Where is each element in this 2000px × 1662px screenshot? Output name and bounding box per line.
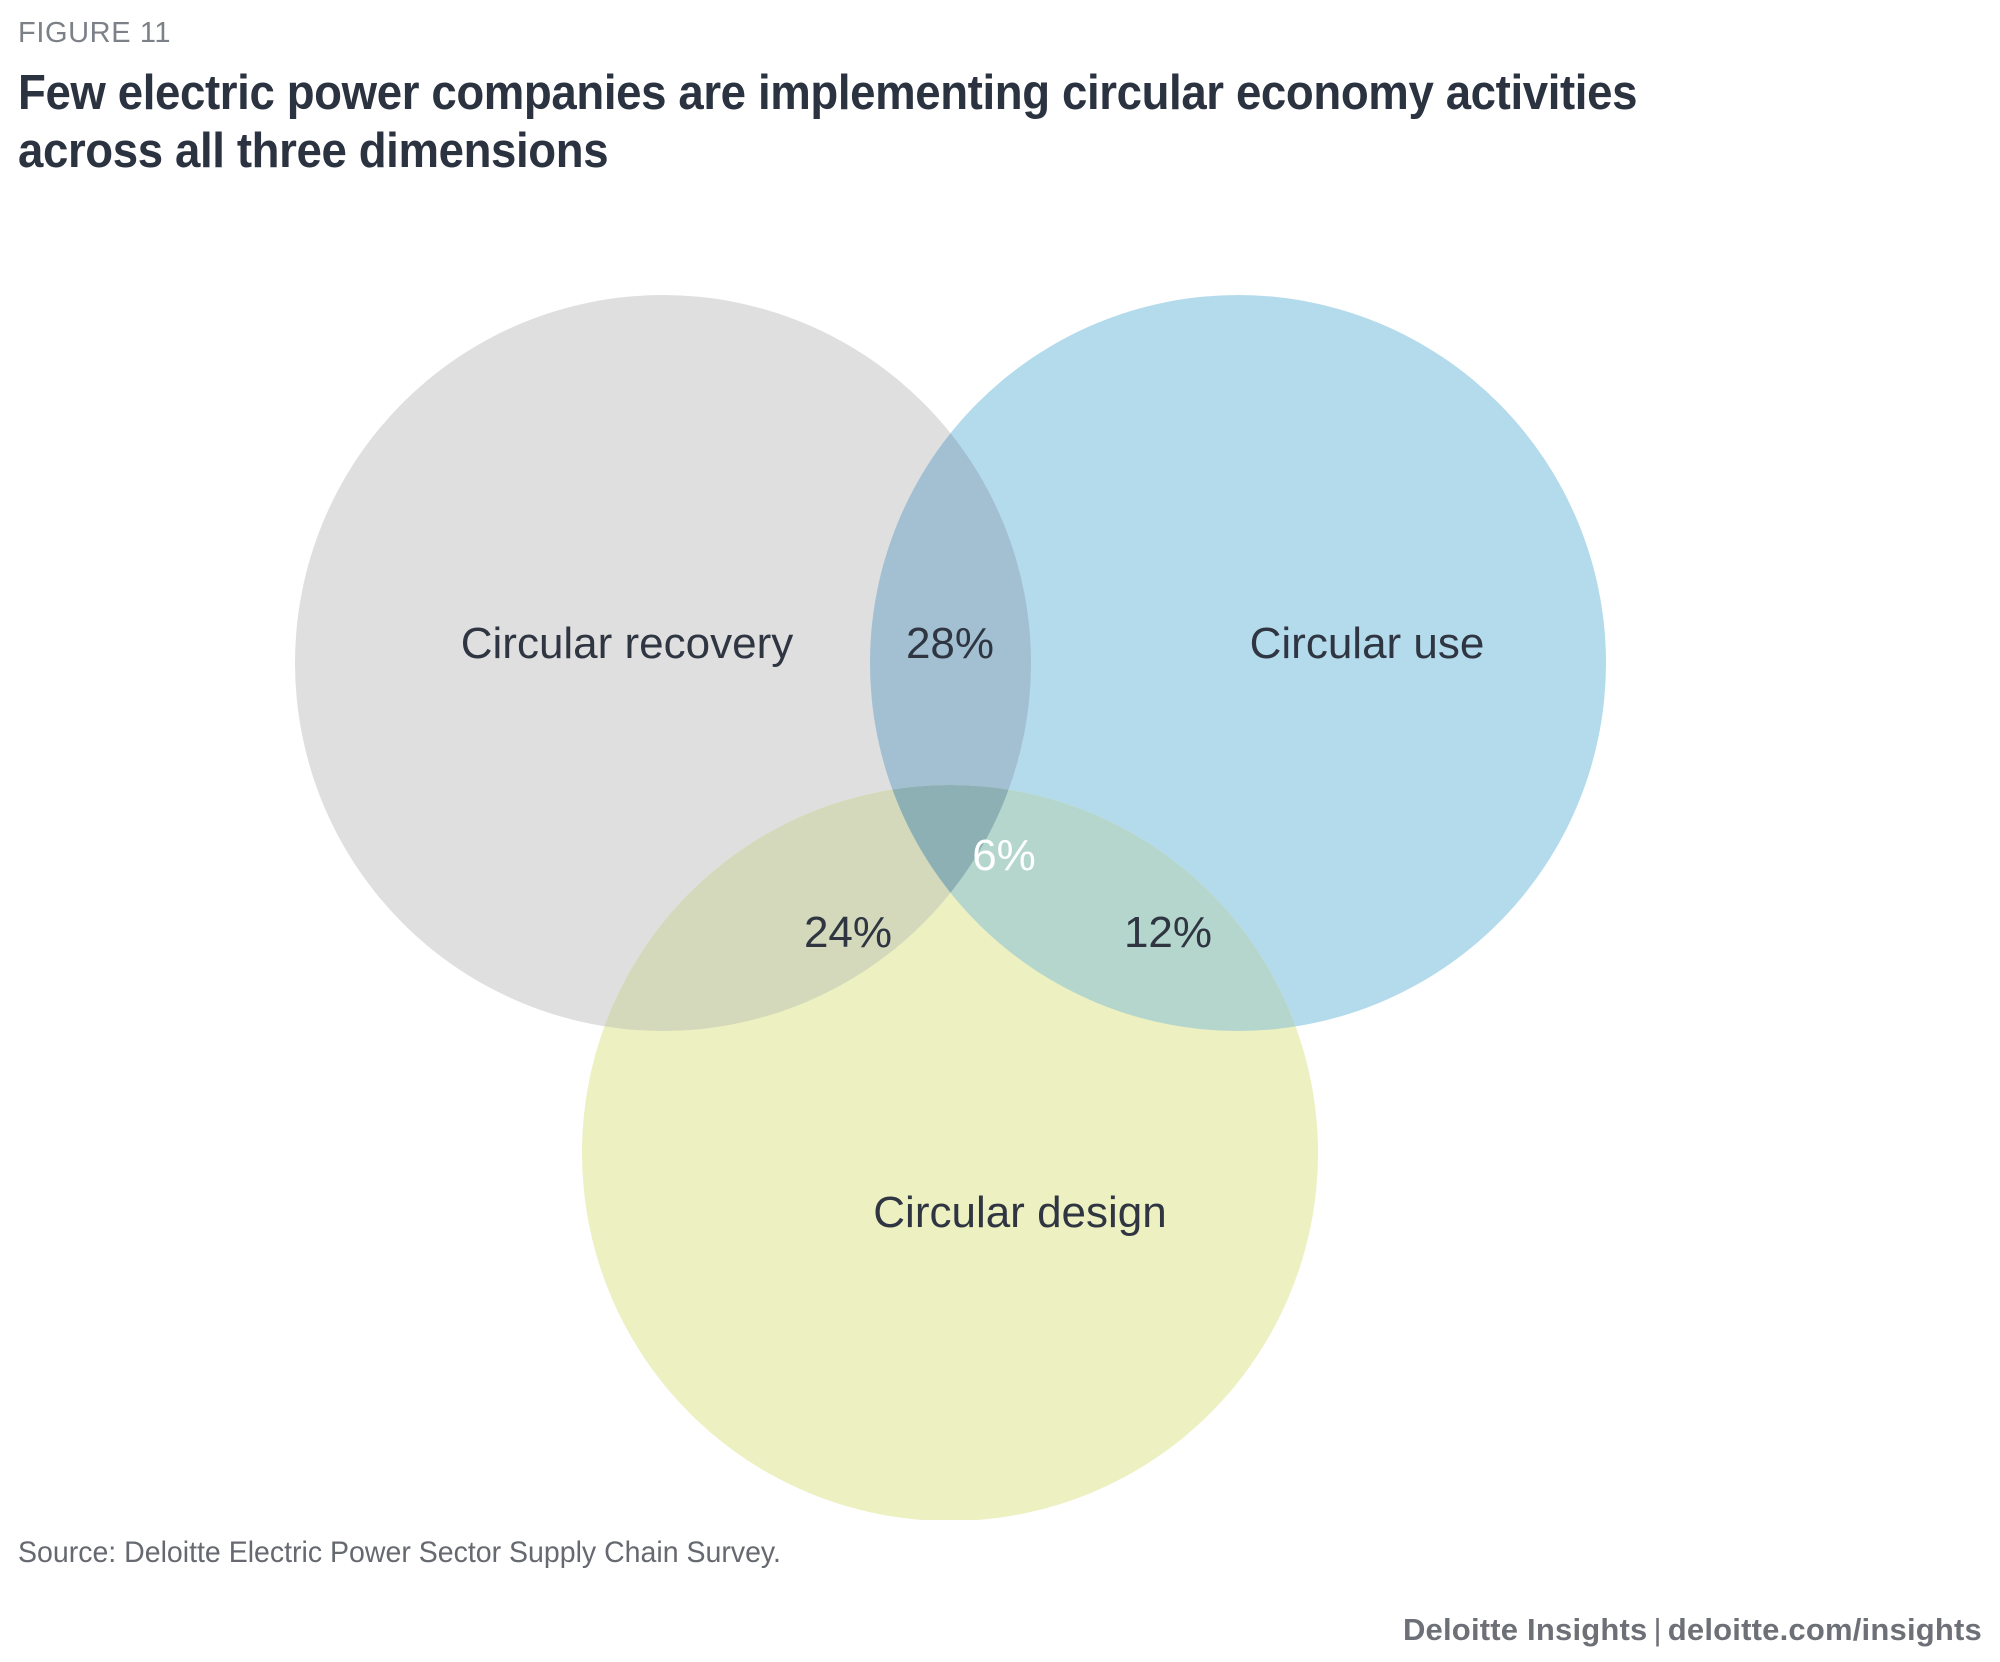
venn-value-triple-intersection: 6% (972, 831, 1036, 880)
brand-separator: | (1648, 1612, 1668, 1647)
venn-diagram-area: Circular recovery Circular use Circular … (0, 180, 2000, 1662)
venn-label-circular-design: Circular design (873, 1188, 1166, 1237)
venn-diagram: Circular recovery Circular use Circular … (0, 180, 2000, 1520)
venn-value-use-design: 12% (1124, 908, 1212, 957)
figure-number: FIGURE 11 (18, 16, 1982, 51)
brand-name: Deloitte Insights (1403, 1612, 1648, 1647)
figure-header: FIGURE 11 Few electric power companies a… (0, 0, 2000, 180)
brand-footer: Deloitte Insights|deloitte.com/insights (18, 1612, 1982, 1648)
brand-url[interactable]: deloitte.com/insights (1668, 1612, 1982, 1647)
page-title: Few electric power companies are impleme… (18, 65, 1683, 181)
venn-label-circular-recovery: Circular recovery (461, 619, 794, 668)
venn-label-circular-use: Circular use (1250, 619, 1485, 668)
figure-footer: Source: Deloitte Electric Power Sector S… (0, 1533, 2000, 1662)
figure-container: FIGURE 11 Few electric power companies a… (0, 0, 2000, 1662)
venn-value-recovery-design: 24% (804, 908, 892, 957)
source-note: Source: Deloitte Electric Power Sector S… (18, 1533, 1884, 1572)
venn-value-recovery-use: 28% (906, 619, 994, 668)
